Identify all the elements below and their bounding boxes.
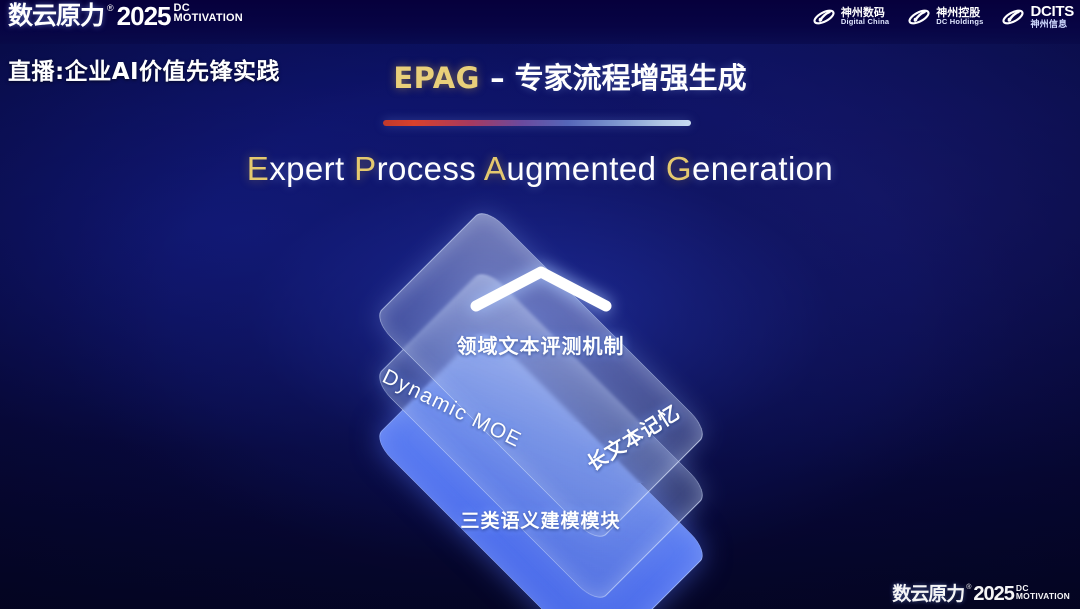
swirl-icon bbox=[907, 5, 931, 29]
brand-dc-line2: MOTIVATION bbox=[174, 13, 243, 24]
brand-registered-mark: ® bbox=[107, 2, 114, 14]
chevron-up-icon bbox=[466, 260, 616, 316]
partner-text: 神州控股 DC Holdings bbox=[936, 7, 983, 26]
watermark-dc-motivation: DC MOTIVATION bbox=[1016, 583, 1070, 600]
subtitle-word-generation: eneration bbox=[692, 150, 833, 187]
subtitle-word-process: rocess bbox=[377, 150, 484, 187]
slide-canvas: 数云原力 ® 2025 DC MOTIVATION 直播:企业AI价值先锋实践 … bbox=[0, 0, 1080, 609]
partner-logo-dcits: DCITS 神州信息 bbox=[1001, 4, 1074, 29]
partner-logo-digital-china: 神州数码 Digital China bbox=[812, 5, 889, 29]
subtitle-word-expert: xpert bbox=[269, 150, 354, 187]
brand-dc-motivation: DC MOTIVATION bbox=[174, 2, 243, 24]
watermark-name-cn: 数云原力 bbox=[892, 583, 964, 605]
swirl-icon bbox=[1001, 5, 1025, 29]
partner-name-en: DC Holdings bbox=[936, 18, 983, 26]
partner-text: DCITS 神州信息 bbox=[1030, 4, 1074, 29]
watermark-year: 2025 bbox=[973, 583, 1014, 605]
layer-top-label: 领域文本评测机制 bbox=[457, 330, 625, 359]
subtitle-initial-a: A bbox=[484, 150, 506, 187]
slide-subtitle: Expert Process Augmented Generation bbox=[0, 150, 1080, 188]
partner-text: 神州数码 Digital China bbox=[841, 7, 889, 26]
partner-name-en: 神州信息 bbox=[1030, 20, 1074, 29]
footer-watermark-logo: 数云原力 ® 2025 DC MOTIVATION bbox=[892, 583, 1070, 605]
brand-name-cn: 数云原力 bbox=[8, 2, 104, 30]
live-broadcast-tag: 直播:企业AI价值先锋实践 bbox=[8, 52, 280, 86]
brand-year: 2025 bbox=[117, 2, 171, 30]
layer-bottom-label: 三类语义建模模块 bbox=[460, 506, 620, 533]
partner-logo-group: 神州数码 Digital China 神州控股 DC Holdings bbox=[812, 4, 1074, 29]
subtitle-initial-g: G bbox=[666, 150, 692, 187]
title-acronym: EPAG bbox=[393, 61, 480, 95]
subtitle-initial-p: P bbox=[354, 150, 376, 187]
brand-logo: 数云原力 ® 2025 DC MOTIVATION bbox=[8, 2, 243, 30]
watermark-registered-mark: ® bbox=[966, 583, 971, 592]
swirl-icon bbox=[812, 5, 836, 29]
title-divider bbox=[383, 120, 691, 126]
partner-name-en: Digital China bbox=[841, 18, 889, 26]
partner-logo-dc-holdings: 神州控股 DC Holdings bbox=[907, 5, 983, 29]
watermark-dc-line2: MOTIVATION bbox=[1016, 592, 1070, 601]
title-chinese: – 专家流程增强生成 bbox=[480, 61, 747, 95]
layer-stack-diagram: 领域文本评测机制 Dynamic MOE 长文本记忆 三类语义建模模块 bbox=[268, 222, 813, 567]
subtitle-word-augmented: ugmented bbox=[506, 150, 666, 187]
subtitle-initial-e: E bbox=[247, 150, 269, 187]
partner-name-cn: DCITS bbox=[1030, 4, 1074, 20]
